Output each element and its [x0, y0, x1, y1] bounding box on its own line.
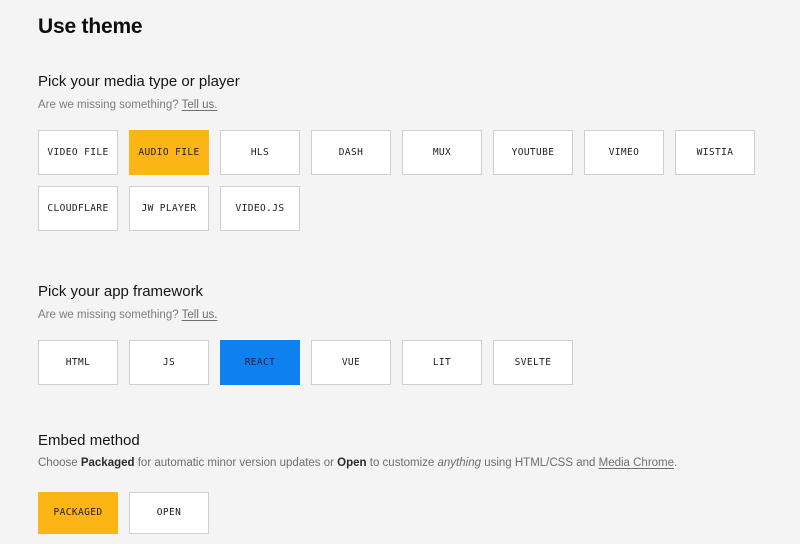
embed-method-description: Choose Packaged for automatic minor vers…: [38, 456, 762, 472]
media-option-wistia-label: WISTIA: [697, 147, 734, 158]
embed-desc-part2: for automatic minor version updates or: [135, 457, 338, 469]
media-option-dash-label: DASH: [339, 147, 363, 158]
embed-desc-part4: using HTML/CSS and: [481, 457, 599, 469]
section-divider-1: [38, 242, 762, 283]
embed-method-options: PACKAGED OPEN: [38, 492, 762, 534]
media-option-vimeo[interactable]: VIMEO: [584, 130, 664, 175]
media-type-tell-us-link[interactable]: Tell us.: [182, 99, 218, 111]
embed-option-open[interactable]: OPEN: [129, 492, 209, 534]
media-option-video-file-label: VIDEO FILE: [47, 147, 108, 158]
media-option-dash[interactable]: DASH: [311, 130, 391, 175]
media-option-jw-player[interactable]: JW PLAYER: [129, 186, 209, 231]
media-option-hls-label: HLS: [251, 147, 269, 158]
embed-desc-part1: Choose: [38, 457, 81, 469]
page-title: Use theme: [38, 14, 762, 39]
media-option-mux[interactable]: MUX: [402, 130, 482, 175]
media-type-options: VIDEO FILE AUDIO FILE HLS DASH MUX YOUTU…: [38, 130, 762, 231]
media-option-wistia[interactable]: WISTIA: [675, 130, 755, 175]
media-option-cloudflare-label: CLOUDFLARE: [47, 203, 108, 214]
theme-settings-page: Use theme Pick your media type or player…: [0, 0, 800, 544]
media-option-jw-player-label: JW PLAYER: [141, 203, 196, 214]
media-type-heading: Pick your media type or player: [38, 73, 762, 92]
media-chrome-link[interactable]: Media Chrome: [599, 457, 674, 469]
framework-option-svelte[interactable]: SVELTE: [493, 340, 573, 385]
framework-subtitle-text: Are we missing something?: [38, 309, 179, 321]
media-type-subtitle: Are we missing something? Tell us.: [38, 98, 762, 113]
framework-option-js-label: JS: [163, 357, 175, 368]
framework-subtitle: Are we missing something? Tell us.: [38, 308, 762, 323]
embed-desc-part3: to customize: [367, 457, 438, 469]
embed-desc-anything: anything: [438, 457, 481, 469]
framework-option-vue[interactable]: VUE: [311, 340, 391, 385]
framework-options: HTML JS REACT VUE LIT SVELTE: [38, 340, 762, 385]
embed-method-heading: Embed method: [38, 432, 762, 451]
framework-option-react[interactable]: REACT: [220, 340, 300, 385]
media-option-youtube[interactable]: YOUTUBE: [493, 130, 573, 175]
framework-section: Pick your app framework Are we missing s…: [38, 283, 762, 385]
framework-heading: Pick your app framework: [38, 283, 762, 302]
media-option-video-file[interactable]: VIDEO FILE: [38, 130, 118, 175]
media-option-video-js-label: VIDEO.JS: [236, 203, 285, 214]
media-option-vimeo-label: VIMEO: [609, 147, 640, 158]
framework-option-lit[interactable]: LIT: [402, 340, 482, 385]
media-option-youtube-label: YOUTUBE: [512, 147, 555, 158]
section-divider-2: [38, 396, 762, 432]
media-option-audio-file[interactable]: AUDIO FILE: [129, 130, 209, 175]
media-option-audio-file-label: AUDIO FILE: [138, 147, 199, 158]
embed-desc-part5: .: [674, 457, 677, 469]
embed-method-section: Embed method Choose Packaged for automat…: [38, 432, 762, 534]
media-option-mux-label: MUX: [433, 147, 451, 158]
embed-option-packaged[interactable]: PACKAGED: [38, 492, 118, 534]
media-option-cloudflare[interactable]: CLOUDFLARE: [38, 186, 118, 231]
embed-desc-open: Open: [337, 457, 366, 469]
embed-option-open-label: OPEN: [157, 507, 181, 518]
embed-desc-packaged: Packaged: [81, 457, 135, 469]
framework-option-vue-label: VUE: [342, 357, 360, 368]
media-option-video-js[interactable]: VIDEO.JS: [220, 186, 300, 231]
framework-option-html[interactable]: HTML: [38, 340, 118, 385]
media-option-hls[interactable]: HLS: [220, 130, 300, 175]
media-type-section: Pick your media type or player Are we mi…: [38, 73, 762, 231]
embed-option-packaged-label: PACKAGED: [54, 507, 103, 518]
framework-option-html-label: HTML: [66, 357, 90, 368]
framework-option-svelte-label: SVELTE: [515, 357, 552, 368]
framework-option-react-label: REACT: [245, 357, 276, 368]
framework-option-lit-label: LIT: [433, 357, 451, 368]
framework-option-js[interactable]: JS: [129, 340, 209, 385]
framework-tell-us-link[interactable]: Tell us.: [182, 309, 218, 321]
media-type-subtitle-text: Are we missing something?: [38, 99, 179, 111]
